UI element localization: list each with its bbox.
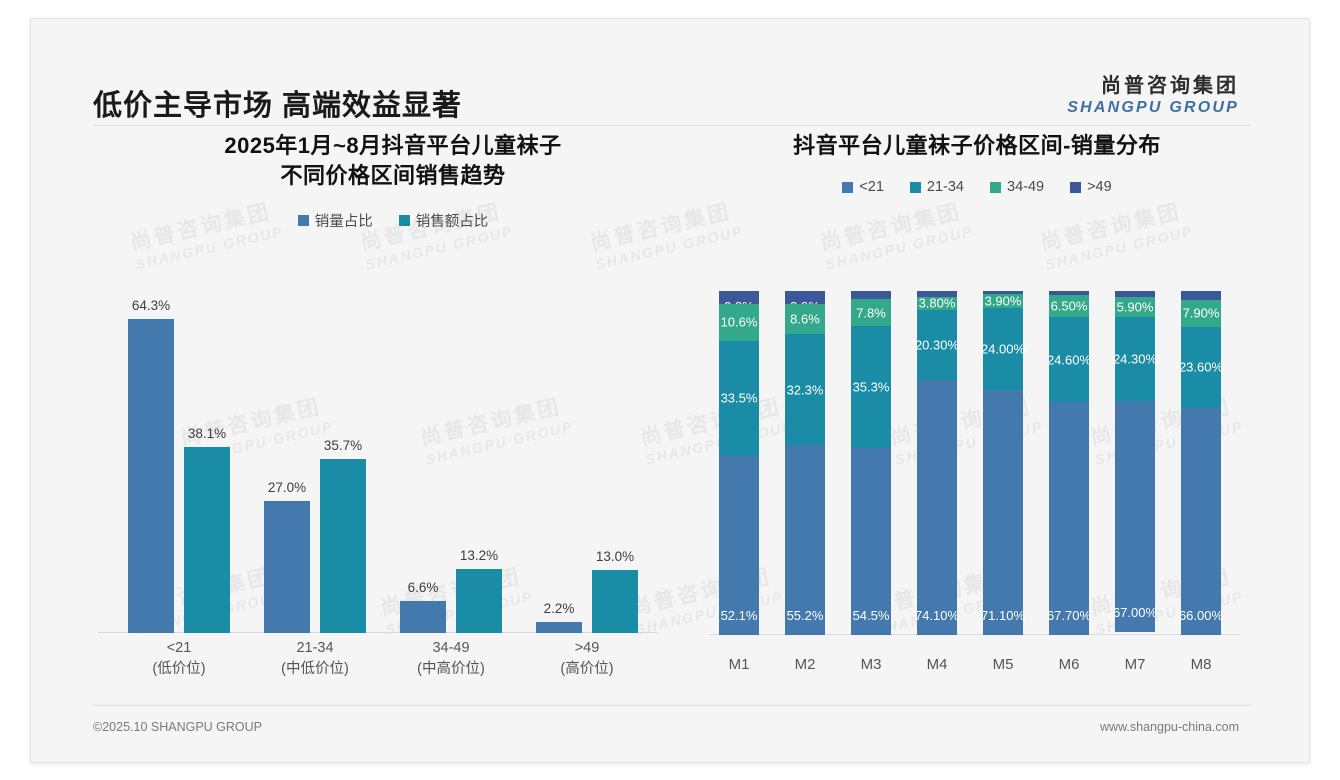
left-chart-bar[interactable]: 6.6% bbox=[400, 291, 446, 633]
right-chart-x-tick: M4 bbox=[917, 656, 957, 673]
right-chart-stacked-bar[interactable]: 1.00%3.90%24.00%71.10% bbox=[983, 291, 1023, 635]
right-chart-stack-segment[interactable]: 35.3% bbox=[851, 326, 891, 447]
right-chart-segment-value-label: 74.10% bbox=[915, 608, 959, 623]
right-chart-x-tick: M2 bbox=[785, 656, 825, 673]
page-title: 低价主导市场 高端效益显著 bbox=[93, 82, 462, 124]
right-chart-x-tick: M5 bbox=[983, 656, 1023, 673]
left-chart-bar-rect[interactable] bbox=[184, 447, 230, 633]
right-chart-segment-value-label: 5.90% bbox=[1117, 300, 1154, 315]
left-chart-legend-item[interactable]: 销售额占比 bbox=[399, 210, 489, 231]
right-chart-x-tick: M3 bbox=[851, 656, 891, 673]
right-chart-stack-segment[interactable]: 24.30% bbox=[1115, 317, 1155, 401]
left-chart-plot-area: 64.3%38.1%27.0%35.7%6.6%13.2%2.2%13.0% <… bbox=[93, 281, 693, 681]
slide-header: 低价主导市场 高端效益显著 尚普咨询集团 SHANGPU GROUP bbox=[31, 19, 1309, 121]
legend-swatch-icon bbox=[990, 182, 1001, 193]
left-chart-title-line1: 2025年1月~8月抖音平台儿童袜子 bbox=[93, 131, 693, 161]
right-chart-legend-item[interactable]: >49 bbox=[1070, 179, 1112, 195]
right-chart-stack-segment[interactable]: 3.8% bbox=[719, 291, 759, 304]
right-chart-segment-value-label: 32.3% bbox=[787, 382, 824, 397]
logo-chinese-text: 尚普咨询集团 bbox=[1067, 76, 1239, 98]
right-chart-title: 抖音平台儿童袜子价格区间-销量分布 bbox=[703, 131, 1251, 161]
right-chart-segment-value-label: 55.2% bbox=[787, 608, 824, 623]
left-chart-bar-value-label: 35.7% bbox=[324, 438, 362, 453]
logo-english-text: SHANGPU GROUP bbox=[1067, 99, 1239, 116]
left-chart-bar-rect[interactable] bbox=[592, 570, 638, 634]
right-chart-stacked-bar[interactable]: 1.70%3.80%20.30%74.10% bbox=[917, 291, 957, 635]
x-tick-range: >49 bbox=[575, 640, 600, 656]
right-chart-legend-item[interactable]: <21 bbox=[842, 179, 884, 195]
left-chart-bar-rect[interactable] bbox=[264, 501, 310, 633]
left-chart-bar-value-label: 2.2% bbox=[544, 601, 575, 616]
right-chart-stack-segment[interactable]: 3.80% bbox=[917, 297, 957, 310]
right-chart-segment-value-label: 54.5% bbox=[853, 608, 890, 623]
left-chart-bar[interactable]: 64.3% bbox=[128, 291, 174, 633]
right-chart-segment-value-label: 23.60% bbox=[1179, 360, 1223, 375]
right-chart-segment-value-label: 24.30% bbox=[1113, 352, 1157, 367]
left-chart-bar-value-label: 64.3% bbox=[132, 298, 170, 313]
left-chart-bar-group: 6.6%13.2% bbox=[383, 291, 519, 633]
left-chart-panel: 2025年1月~8月抖音平台儿童袜子 不同价格区间销售趋势 销量占比销售额占比 … bbox=[93, 131, 693, 711]
right-chart-segment-value-label: 8.6% bbox=[790, 312, 820, 327]
legend-item-label: 21-34 bbox=[927, 179, 964, 195]
right-chart-legend-item[interactable]: 34-49 bbox=[990, 179, 1044, 195]
right-chart-stack-segment[interactable]: 20.30% bbox=[917, 310, 957, 380]
left-chart-bar[interactable]: 13.0% bbox=[592, 291, 638, 633]
right-chart-segment-value-label: 6.50% bbox=[1051, 299, 1088, 314]
x-tick-tier: (中低价位) bbox=[247, 659, 383, 681]
right-chart-stacked-bar[interactable]: 3.8%10.6%33.5%52.1% bbox=[719, 291, 759, 635]
right-chart-x-tick: M6 bbox=[1049, 656, 1089, 673]
right-chart-stack-segment[interactable]: 23.60% bbox=[1181, 327, 1221, 408]
x-tick-tier: (低价位) bbox=[111, 659, 247, 681]
legend-item-label: <21 bbox=[859, 179, 884, 195]
right-chart-stack-segment[interactable]: 6.50% bbox=[1049, 295, 1089, 317]
left-chart-bar-rect[interactable] bbox=[456, 569, 502, 633]
right-chart-segment-value-label: 3.90% bbox=[985, 294, 1022, 309]
x-tick-range: 34-49 bbox=[432, 640, 469, 656]
right-chart-segment-value-label: 67.00% bbox=[1113, 605, 1157, 620]
right-chart-stack-segment[interactable]: 7.8% bbox=[851, 299, 891, 326]
right-chart-segment-value-label: 24.00% bbox=[981, 342, 1025, 357]
right-chart-segment-value-label: 24.60% bbox=[1047, 352, 1091, 367]
left-chart-bar-rect[interactable] bbox=[128, 319, 174, 633]
left-chart-bar-rect[interactable] bbox=[536, 622, 582, 633]
right-chart-segment-value-label: 33.5% bbox=[721, 391, 758, 406]
right-chart-stacked-bar[interactable]: 2.50%7.90%23.60%66.00% bbox=[1181, 291, 1221, 635]
right-chart-stack-segment[interactable]: 67.00% bbox=[1115, 401, 1155, 631]
left-chart-x-tick: >49(高价位) bbox=[519, 638, 655, 682]
legend-swatch-icon bbox=[298, 215, 309, 226]
right-chart-legend: <2121-3434-49>49 bbox=[703, 179, 1251, 195]
right-chart-stack-segment[interactable]: 54.5% bbox=[851, 448, 891, 635]
right-chart-stack-segment[interactable]: 3.90% bbox=[983, 294, 1023, 307]
right-chart-segment-value-label: 52.1% bbox=[721, 608, 758, 623]
right-chart-x-tick: M1 bbox=[719, 656, 759, 673]
left-chart-bar-value-label: 6.6% bbox=[408, 580, 439, 595]
left-chart-bar[interactable]: 35.7% bbox=[320, 291, 366, 633]
right-chart-stack-segment[interactable]: 66.00% bbox=[1181, 408, 1221, 635]
legend-swatch-icon bbox=[910, 182, 921, 193]
right-chart-plot-area: 3.8%10.6%33.5%52.1%3.9%8.6%32.3%55.2%2.4… bbox=[703, 281, 1251, 681]
legend-item-label: 销量占比 bbox=[315, 210, 373, 231]
left-chart-bar-value-label: 27.0% bbox=[268, 480, 306, 495]
right-chart-segment-value-label: 10.6% bbox=[721, 315, 758, 330]
right-chart-stack-segment[interactable]: 52.1% bbox=[719, 456, 759, 635]
right-chart-stack-segment[interactable]: 33.5% bbox=[719, 341, 759, 456]
x-tick-tier: (中高价位) bbox=[383, 659, 519, 681]
left-chart-bar-value-label: 38.1% bbox=[188, 426, 226, 441]
legend-item-label: >49 bbox=[1087, 179, 1112, 195]
left-chart-legend: 销量占比销售额占比 bbox=[93, 210, 693, 231]
right-chart-segment-value-label: 20.30% bbox=[915, 337, 959, 352]
right-chart-legend-item[interactable]: 21-34 bbox=[910, 179, 964, 195]
header-divider bbox=[93, 125, 1251, 126]
left-chart-bar[interactable]: 2.2% bbox=[536, 291, 582, 633]
right-chart-stacked-bar[interactable]: 1.20%6.50%24.60%67.70% bbox=[1049, 291, 1089, 635]
left-chart-bar-group: 64.3%38.1% bbox=[111, 291, 247, 633]
right-chart-segment-value-label: 7.8% bbox=[856, 305, 886, 320]
right-chart-x-tick: M7 bbox=[1115, 656, 1155, 673]
left-chart-bar[interactable]: 13.2% bbox=[456, 291, 502, 633]
legend-swatch-icon bbox=[842, 182, 853, 193]
left-chart-title: 2025年1月~8月抖音平台儿童袜子 不同价格区间销售趋势 bbox=[93, 131, 693, 192]
right-chart-stack-segment[interactable]: 55.2% bbox=[785, 445, 825, 635]
left-chart-legend-item[interactable]: 销量占比 bbox=[298, 210, 373, 231]
footer-copyright: ©2025.10 SHANGPU GROUP bbox=[93, 720, 262, 734]
right-chart-segment-value-label: 7.90% bbox=[1183, 306, 1220, 321]
x-tick-tier: (高价位) bbox=[519, 659, 655, 681]
left-chart-bar-rect[interactable] bbox=[320, 459, 366, 633]
slide-canvas: 低价主导市场 高端效益显著 尚普咨询集团 SHANGPU GROUP 尚普咨询集… bbox=[30, 18, 1310, 763]
x-tick-range: 21-34 bbox=[296, 640, 333, 656]
legend-swatch-icon bbox=[1070, 182, 1081, 193]
left-chart-bar-group: 27.0%35.7% bbox=[247, 291, 383, 633]
right-chart-stack-segment[interactable]: 74.10% bbox=[917, 380, 957, 635]
left-chart-x-tick: 34-49(中高价位) bbox=[383, 638, 519, 682]
right-chart-stacked-bar[interactable]: 1.80%5.90%24.30%67.00% bbox=[1115, 291, 1155, 635]
footer-divider bbox=[93, 705, 1251, 706]
left-chart-bar-rect[interactable] bbox=[400, 601, 446, 633]
right-chart-stack-segment[interactable]: 5.90% bbox=[1115, 297, 1155, 317]
right-chart-segment-value-label: 35.3% bbox=[853, 379, 890, 394]
right-chart-stack-segment[interactable]: 10.6% bbox=[719, 304, 759, 340]
left-chart-x-tick: 21-34(中低价位) bbox=[247, 638, 383, 682]
left-chart-bar[interactable]: 27.0% bbox=[264, 291, 310, 633]
right-chart-x-tick: M8 bbox=[1181, 656, 1221, 673]
right-chart-stack-segment[interactable]: 7.90% bbox=[1181, 300, 1221, 327]
legend-item-label: 34-49 bbox=[1007, 179, 1044, 195]
left-chart-title-line2: 不同价格区间销售趋势 bbox=[93, 161, 693, 191]
right-chart-stack-segment[interactable]: 24.60% bbox=[1049, 317, 1089, 402]
right-chart-stack-segment[interactable]: 71.10% bbox=[983, 390, 1023, 635]
right-chart-stack-segment[interactable]: 2.4% bbox=[851, 291, 891, 299]
left-chart-bar[interactable]: 38.1% bbox=[184, 291, 230, 633]
brand-logo: 尚普咨询集团 SHANGPU GROUP bbox=[1067, 76, 1239, 116]
right-chart-panel: 抖音平台儿童袜子价格区间-销量分布 <2121-3434-49>49 3.8%1… bbox=[703, 131, 1251, 711]
right-chart-segment-value-label: 67.70% bbox=[1047, 608, 1091, 623]
legend-swatch-icon bbox=[399, 215, 410, 226]
left-chart-bar-value-label: 13.0% bbox=[596, 549, 634, 564]
left-chart-bar-value-label: 13.2% bbox=[460, 548, 498, 563]
left-chart-x-tick: <21(低价位) bbox=[111, 638, 247, 682]
legend-item-label: 销售额占比 bbox=[416, 210, 489, 231]
right-chart-stack-segment[interactable]: 32.3% bbox=[785, 334, 825, 445]
right-chart-segment-value-label: 66.00% bbox=[1179, 608, 1223, 623]
right-chart-stacked-bar[interactable]: 3.9%8.6%32.3%55.2% bbox=[785, 291, 825, 635]
right-chart-stack-segment[interactable]: 24.00% bbox=[983, 308, 1023, 391]
x-tick-range: <21 bbox=[167, 640, 192, 656]
right-chart-segment-value-label: 3.80% bbox=[919, 296, 956, 311]
right-chart-stacked-bar[interactable]: 2.4%7.8%35.3%54.5% bbox=[851, 291, 891, 635]
right-chart-segment-value-label: 71.10% bbox=[981, 608, 1025, 623]
right-chart-stack-segment[interactable]: 2.50% bbox=[1181, 291, 1221, 300]
right-chart-stack-segment[interactable]: 67.70% bbox=[1049, 402, 1089, 635]
left-chart-bar-group: 2.2%13.0% bbox=[519, 291, 655, 633]
right-chart-stack-segment[interactable]: 3.9% bbox=[785, 291, 825, 304]
footer-website: www.shangpu-china.com bbox=[1100, 720, 1239, 734]
right-chart-stack-segment[interactable]: 8.6% bbox=[785, 304, 825, 334]
